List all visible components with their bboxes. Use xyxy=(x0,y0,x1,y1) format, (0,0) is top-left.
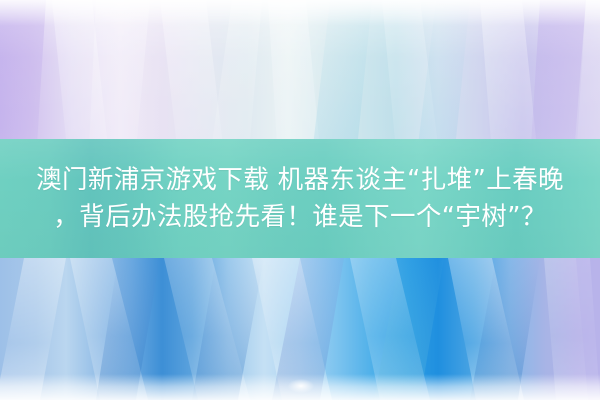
headline-block: 澳门新浦京游戏下载 机器东谈主“扎堆”上春晚 ，背后办法股抢先看！谁是下一个“宇… xyxy=(0,139,600,258)
headline-line-1: 澳门新浦京游戏下载 机器东谈主“扎堆”上春晚 xyxy=(36,162,564,199)
decorative-banner: 澳门新浦京游戏下载 机器东谈主“扎堆”上春晚 ，背后办法股抢先看！谁是下一个“宇… xyxy=(0,0,600,400)
headline-line-2: ，背后办法股抢先看！谁是下一个“宇树”？ xyxy=(53,199,546,236)
